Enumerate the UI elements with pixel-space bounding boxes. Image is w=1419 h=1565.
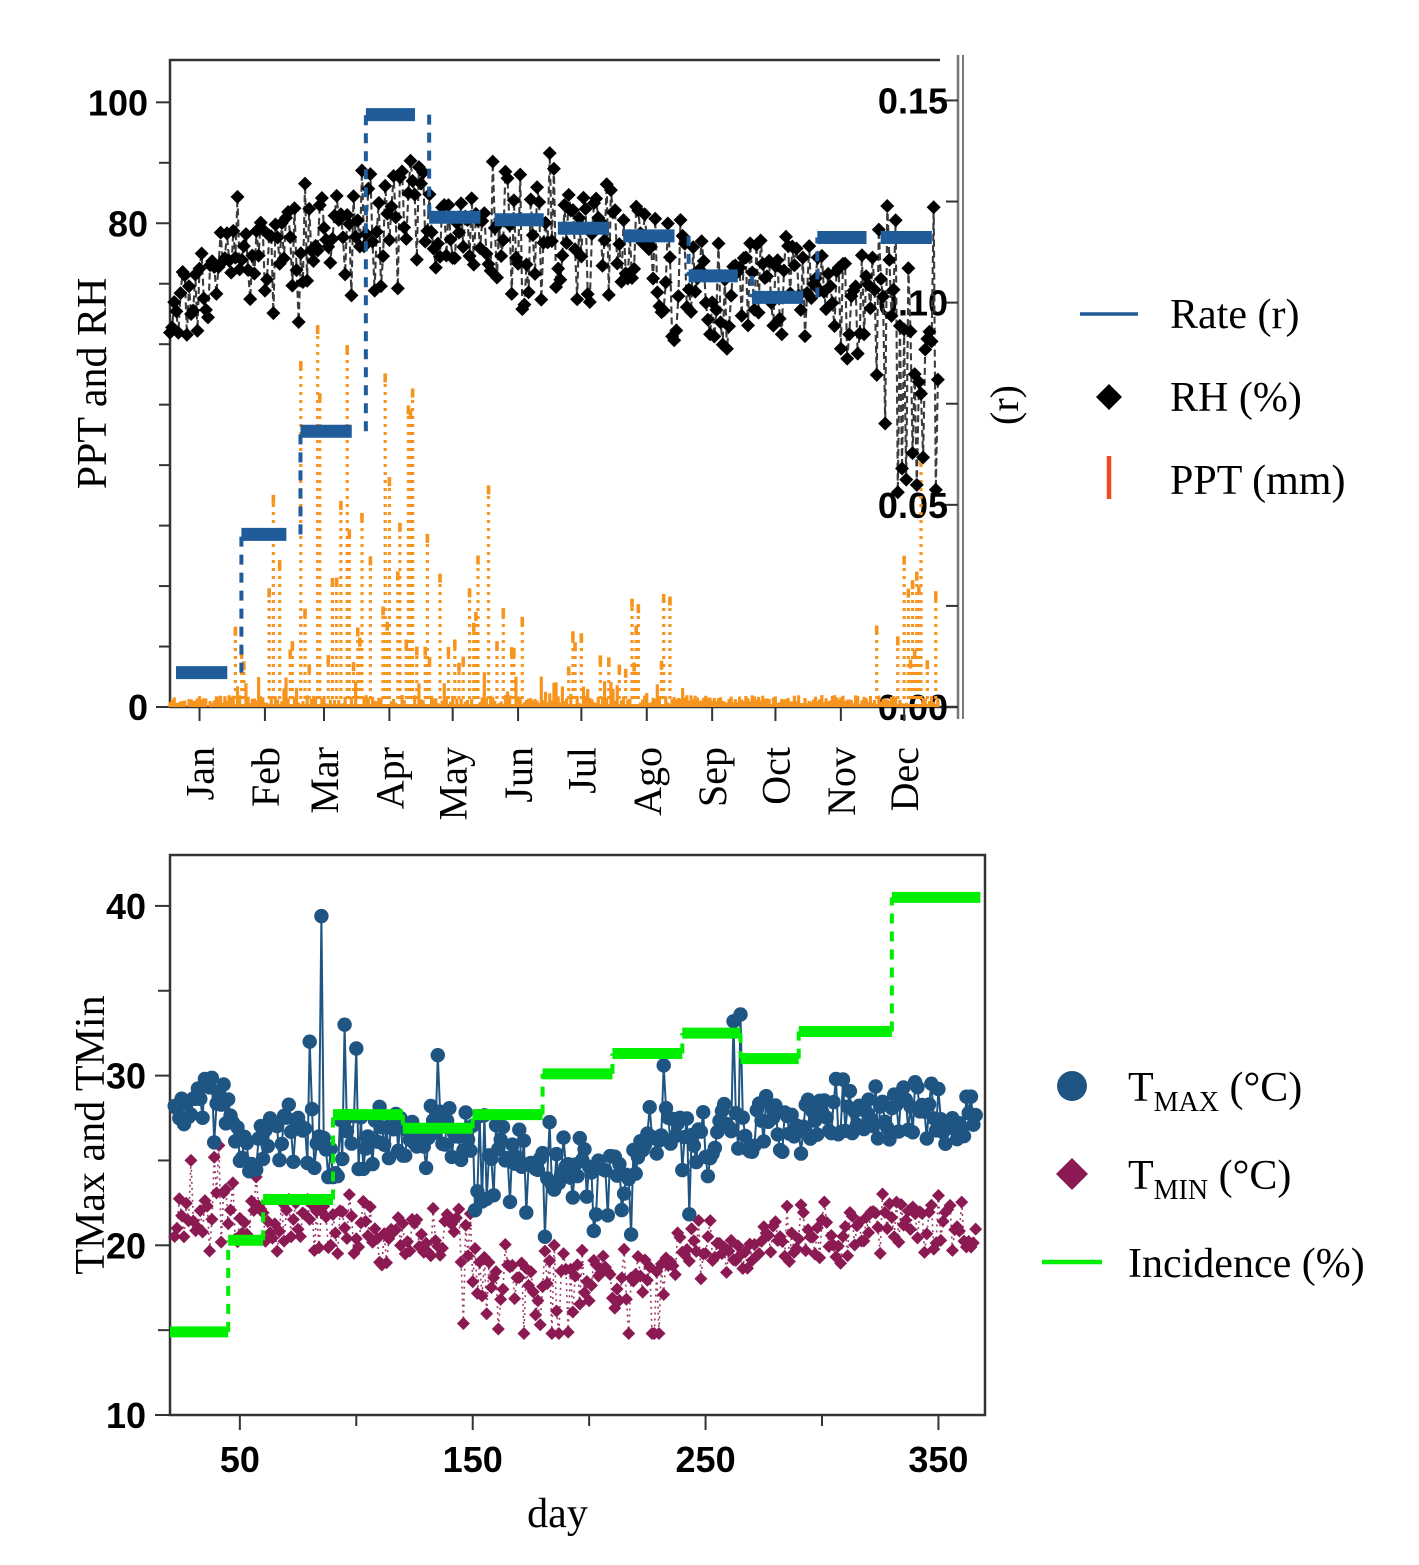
tmax-point [496, 1120, 510, 1134]
tmin-point [557, 1247, 570, 1260]
tmin-point [222, 1217, 235, 1230]
rh-point [889, 213, 903, 227]
tmin-point [492, 1322, 505, 1335]
rh-legend-diamond-icon [1096, 384, 1122, 410]
top-x-tick-label-dec: Dec [882, 747, 927, 811]
bottom-y-tick-label: 10 [106, 1395, 146, 1436]
rh-point [266, 306, 280, 320]
tmin-point [215, 1236, 228, 1249]
rh-point [880, 199, 894, 213]
tmax-point [650, 1146, 664, 1160]
rh-point [376, 249, 390, 263]
rh-point [865, 251, 879, 265]
top-x-tick-label-jan: Jan [178, 747, 223, 800]
tmin-point [271, 1245, 284, 1258]
top-y-tick-label: 80 [108, 203, 148, 244]
tmin-point [517, 1327, 530, 1340]
tmax-point [617, 1186, 631, 1200]
bottom-x-tick-label: 50 [220, 1439, 260, 1480]
top-y-tick-label: 0 [128, 687, 148, 728]
rh-point [931, 373, 945, 387]
bottom-x-tick-label: 250 [676, 1439, 736, 1480]
tmin-point [496, 1283, 509, 1296]
bottom-x-axis-title: day [527, 1491, 588, 1537]
tmax-point [680, 1111, 694, 1125]
top-x-tick-label-apr: Apr [367, 747, 412, 809]
rh-point [344, 288, 358, 302]
tmax-point [298, 1122, 312, 1136]
tmax-point [957, 1129, 971, 1143]
tmax-point [566, 1190, 580, 1204]
tmax-point [487, 1188, 501, 1202]
rh-point [646, 272, 660, 286]
rh-point [595, 259, 609, 273]
top-panel: 080100PPT and RH0.000.050.100.15(r)JanFe… [0, 0, 1419, 830]
tmax-point [337, 1018, 351, 1032]
rh-point [399, 232, 413, 246]
tmax-point [305, 1102, 319, 1116]
tmax-point [794, 1146, 808, 1160]
top-y2-axis-title: (r) [982, 385, 1027, 425]
rh-point [372, 196, 386, 210]
tmax-point [335, 1152, 349, 1166]
rh-point [661, 216, 675, 230]
tmax-point [556, 1130, 570, 1144]
top-plot-area: 080100PPT and RH0.000.050.100.15(r)JanFe… [70, 55, 1027, 820]
rh-series [163, 146, 945, 499]
rh-point [505, 287, 519, 301]
legend-label: PPT (mm) [1170, 458, 1345, 504]
tmax-point [826, 1095, 840, 1109]
rh-point [513, 168, 527, 182]
tmin-point [224, 1203, 237, 1216]
tmax-point [463, 1143, 477, 1157]
top-x-tick-label-ago: Ago [625, 747, 670, 816]
rh-point [798, 329, 812, 343]
rh-point [169, 304, 183, 318]
tmax-point [303, 1035, 317, 1049]
tmax-point [910, 1080, 924, 1094]
legend-ppt[interactable]: PPT (mm) [1109, 456, 1345, 504]
rh-point [330, 189, 344, 203]
tmax-point [708, 1141, 722, 1155]
bottom-x-tick-label: 350 [908, 1439, 968, 1480]
tmax-point [724, 1124, 738, 1138]
legend-label: TMAX (°C) [1128, 1065, 1302, 1118]
rh-point [555, 248, 569, 262]
rh-point [530, 180, 544, 194]
tmax-point [820, 1111, 834, 1125]
rh-point [855, 248, 869, 262]
tmax-point [643, 1100, 657, 1114]
tmin-point [781, 1200, 794, 1213]
rh-point [547, 162, 561, 176]
tmax-point [324, 1142, 338, 1156]
tmax-point [286, 1155, 300, 1169]
tmax-point [969, 1108, 983, 1122]
tmax-point [922, 1097, 936, 1111]
rh-point [663, 250, 677, 264]
tmin-point [562, 1326, 575, 1339]
tmin-point [494, 1293, 507, 1306]
tmin-point [508, 1292, 521, 1305]
rh-point [711, 236, 725, 250]
legend-rate[interactable]: Rate (r) [1080, 292, 1299, 338]
top-y2-tick-label: 0.15 [878, 80, 948, 121]
top-x-tick-label-sep: Sep [690, 747, 735, 807]
bottom-y-axis-title: TMax and TMin [68, 995, 114, 1274]
tmax-point [733, 1007, 747, 1021]
tmax-point [587, 1224, 601, 1238]
tmax-point [459, 1105, 473, 1119]
top-legend: Rate (r)RH (%)PPT (mm) [1080, 292, 1345, 504]
top-panel-svg: 080100PPT and RH0.000.050.100.15(r)JanFe… [0, 0, 1419, 830]
tmax-point [580, 1190, 594, 1204]
tmin-point [457, 1317, 470, 1330]
top-x-tick-label-jun: Jun [496, 747, 541, 803]
rh-point [882, 253, 896, 267]
tmin-point [818, 1196, 831, 1209]
tmin-point [636, 1286, 649, 1299]
rh-point [209, 287, 223, 301]
legend-tmin[interactable]: TMIN (°C) [1056, 1153, 1291, 1206]
tmax-point [538, 1230, 552, 1244]
tmin-point [427, 1202, 440, 1215]
tmax-point [549, 1147, 563, 1161]
tmax-point [282, 1098, 296, 1112]
tmax-point [195, 1111, 209, 1125]
top-x-tick-label-oct: Oct [753, 747, 798, 805]
bottom-panel-svg: 10203040TMax and TMin50150250350dayTMAX … [0, 830, 1419, 1565]
tmax-point [431, 1048, 445, 1062]
top-x-tick-label-mar: Mar [302, 747, 347, 814]
rh-point [602, 288, 616, 302]
rh-point [397, 220, 411, 234]
top-x-tick-label-nov: Nov [819, 747, 864, 816]
tmax-point [207, 1135, 221, 1149]
tmin-point [618, 1243, 631, 1256]
tmin-point [825, 1229, 838, 1242]
rh-point [237, 239, 251, 253]
tmin-point [874, 1247, 887, 1260]
tmin-point [955, 1196, 968, 1209]
bottom-plot-area: 10203040TMax and TMin50150250350day [68, 855, 985, 1537]
rh-point [378, 179, 392, 193]
rh-point [526, 228, 540, 242]
legend-tmax[interactable]: TMAX (°C) [1057, 1065, 1302, 1118]
tmax-point [261, 1139, 275, 1153]
tmin-point [184, 1154, 197, 1167]
top-x-tick-label-jul: Jul [559, 747, 604, 794]
tmax-point [314, 909, 328, 923]
tmax-point [931, 1082, 945, 1096]
tmax-point [868, 1079, 882, 1093]
tmax-point [307, 1161, 321, 1175]
rh-point [522, 285, 536, 299]
tmax-point [629, 1166, 643, 1180]
legend-label: RH (%) [1170, 375, 1302, 421]
rh-point [391, 281, 405, 295]
top-y2-tick-label: 0.00 [878, 687, 948, 728]
tmin-point [205, 1213, 218, 1226]
tmax-point [535, 1146, 549, 1160]
tmin-point [480, 1307, 493, 1320]
tmax-point [682, 1207, 696, 1221]
legend-incidence[interactable]: Incidence (%) [1042, 1241, 1365, 1287]
tmax-point [736, 1110, 750, 1124]
tmax-point [349, 1041, 363, 1055]
tmin-point [932, 1189, 945, 1202]
tmax-point [624, 1227, 638, 1241]
tmin-point [701, 1230, 714, 1243]
tmax-point [193, 1092, 207, 1106]
bottom-y-tick-label: 40 [106, 886, 146, 927]
tmax-point [775, 1145, 789, 1159]
ppt-series [170, 325, 938, 707]
top-x-tick-label-may: May [431, 747, 476, 820]
tmax-point [275, 1137, 289, 1151]
tmax-point [503, 1195, 517, 1209]
tmin-point [694, 1272, 707, 1285]
bottom-panel: 10203040TMax and TMin50150250350dayTMAX … [0, 830, 1419, 1565]
tmax-point [377, 1138, 391, 1152]
tmin-point [937, 1215, 950, 1228]
legend-rh[interactable]: RH (%) [1096, 375, 1302, 421]
top-plot-frame [170, 60, 940, 707]
rh-point [701, 313, 715, 327]
rh-point [292, 315, 306, 329]
tmax-point [517, 1134, 531, 1148]
rh-point [258, 284, 272, 298]
rh-point [231, 190, 245, 204]
tmax-point [398, 1149, 412, 1163]
tmax-point [717, 1097, 731, 1111]
legend-label: Incidence (%) [1128, 1241, 1365, 1287]
tmax-point [570, 1169, 584, 1183]
tmin-point [720, 1266, 733, 1279]
tmax-point [687, 1139, 701, 1153]
tmax-point [615, 1203, 629, 1217]
tmin-point [704, 1214, 717, 1227]
tmax-point [344, 1136, 358, 1150]
tmax-point [694, 1125, 708, 1139]
rh-point [551, 262, 565, 276]
tmax-point [340, 1124, 354, 1138]
tmin-point [969, 1223, 982, 1236]
tmax-point [272, 1153, 286, 1167]
rh-point [674, 213, 688, 227]
tmin-point [657, 1288, 670, 1301]
bottom-x-tick-label: 150 [443, 1439, 503, 1480]
rh-point [486, 155, 500, 169]
tmax-point [675, 1163, 689, 1177]
tmax-point [216, 1077, 230, 1091]
tmax-point [442, 1101, 456, 1115]
tmax-point [577, 1142, 591, 1156]
tmax-point [964, 1089, 978, 1103]
rh-point [901, 261, 915, 275]
rh-point [650, 285, 664, 299]
tmax-point [843, 1084, 857, 1098]
tmax-point [701, 1169, 715, 1183]
tmax-point [906, 1125, 920, 1139]
tmax-point [696, 1105, 710, 1119]
tmin-legend-diamond-icon [1056, 1158, 1088, 1190]
rh-point [543, 146, 557, 160]
legend-label: TMIN (°C) [1128, 1153, 1291, 1206]
tmin-point [203, 1244, 216, 1257]
tmin-point [576, 1244, 589, 1257]
tmin-point [946, 1244, 959, 1257]
rh-point [347, 189, 361, 203]
rh-point [298, 177, 312, 191]
tmin-point [764, 1245, 777, 1258]
tmax-point [419, 1161, 433, 1175]
tmax-point [601, 1208, 615, 1222]
top-x-tick-label-feb: Feb [243, 747, 288, 807]
rh-connector-line [170, 153, 938, 492]
rh-point [195, 246, 209, 260]
tmin-point [343, 1188, 356, 1201]
rh-point [870, 368, 884, 382]
bottom-legend: TMAX (°C)TMIN (°C)Incidence (%) [1042, 1065, 1365, 1287]
tmax-point [757, 1134, 771, 1148]
legend-label: Rate (r) [1170, 292, 1299, 338]
rh-point [243, 292, 257, 306]
rh-point [878, 417, 892, 431]
rh-point [617, 213, 631, 227]
tmax-point [657, 1058, 671, 1072]
rh-point [775, 327, 789, 341]
rh-point [239, 227, 253, 241]
rh-point [671, 289, 685, 303]
tmax-point [542, 1115, 556, 1129]
tmax-legend-circle-icon [1057, 1071, 1087, 1101]
tmax-point [256, 1152, 270, 1166]
tmin-point [499, 1238, 512, 1251]
rh-point [534, 293, 548, 307]
tmin-point [876, 1188, 889, 1201]
tmax-point [365, 1157, 379, 1171]
top-y-axis-title: PPT and RH [70, 278, 116, 490]
tmin-point [839, 1220, 852, 1233]
tmax-point [221, 1092, 235, 1106]
rh-point [323, 256, 337, 270]
rh-point [927, 200, 941, 214]
top-y-tick-label: 100 [88, 82, 148, 123]
rh-point [336, 230, 350, 244]
rh-point [410, 253, 424, 267]
tmax-point [519, 1205, 533, 1219]
tmin-point [622, 1327, 635, 1340]
rh-point [802, 239, 816, 253]
